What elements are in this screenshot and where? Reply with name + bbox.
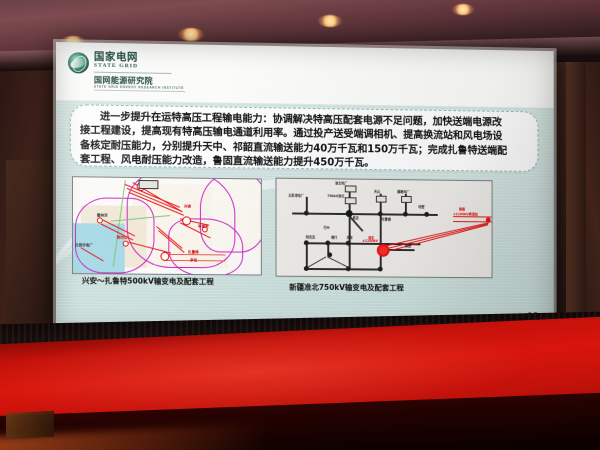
map-label-zhalute: 扎鲁特	[188, 250, 199, 255]
logo-divider-2	[94, 89, 185, 91]
right-wall-column	[566, 40, 586, 350]
sch-box-2	[345, 197, 357, 204]
map-label-tongliao: 霍林河	[97, 213, 108, 218]
sch-new-line-3	[383, 224, 488, 253]
sch-label-7: 昌吉	[353, 215, 359, 220]
figure-grid-schematic: 五彩湾电厂 准北电厂 750kV准北 天山 烟墩电厂 哈密 昌吉 吐鲁番 巴州 …	[276, 178, 493, 279]
map-label-xingan: 兴安	[184, 204, 191, 209]
sch-label-13: 和田	[405, 243, 411, 248]
sch-box-1	[345, 185, 357, 192]
sch-node-5	[424, 212, 429, 217]
sch-label-1: 五彩湾电厂	[288, 193, 304, 198]
sch-label-4: 天山	[374, 189, 380, 194]
sch-label-new-2: ±1100kV	[362, 239, 378, 243]
sch-node-terminal	[486, 217, 491, 222]
state-grid-globe-icon	[68, 52, 89, 73]
sch-node-2	[346, 210, 352, 216]
ceiling-light-3	[318, 15, 342, 27]
map-label-power-plant: 白音华电厂	[75, 243, 93, 248]
sch-box-3	[376, 196, 387, 203]
sch-label-10: 库车	[347, 235, 353, 240]
sch-node-4	[403, 212, 408, 217]
sch-label-2: 准北电厂	[335, 180, 347, 185]
sch-node-1	[304, 211, 309, 216]
map-label-duolun: 多伦	[190, 258, 197, 263]
conference-hall-scene: 国家电网 STATE GRID 国网能源研究院 STATE GRID ENERG…	[0, 0, 600, 450]
sch-label-terminal-2: ±1100kV换流站	[453, 211, 478, 216]
sch-node-11	[378, 267, 383, 272]
slide-text-card: 进一步提升在运特高压工程输电能力：协调解决特高压配套电源不足问题，加快送端电源改…	[70, 104, 538, 172]
sch-bus-upper	[292, 212, 438, 215]
sch-feeder-9	[306, 242, 307, 268]
floor-access-plate	[6, 411, 54, 440]
sch-node-6	[304, 240, 309, 245]
sch-node-9	[304, 266, 309, 271]
sch-label-3: 750kV准北	[327, 193, 344, 198]
sch-label-9: 巴州	[323, 225, 329, 230]
sch-bus-lower	[304, 268, 382, 270]
state-grid-logo: 国家电网 STATE GRID 国网能源研究院 STATE GRID ENERG…	[68, 51, 185, 91]
sch-label-6: 哈密	[418, 204, 424, 209]
sch-label-11: 阿克苏	[306, 234, 315, 239]
figure-caption-left: 兴安～扎鲁特500kV输变电及配套工程	[82, 275, 214, 287]
map-substation-xingan	[160, 252, 169, 261]
figure-caption-right: 新疆准北750kV输变电及配套工程	[289, 282, 404, 294]
ceiling-light-2	[178, 28, 204, 41]
figure-transmission-map: 兴安 平安水 扎鲁特 多伦 霍林河 白音华电厂 阿尔山	[72, 176, 262, 275]
projection-screen[interactable]: 国家电网 STATE GRID 国网能源研究院 STATE GRID ENERG…	[56, 42, 554, 334]
map-substation-small-1	[123, 241, 129, 247]
map-label-box-1	[139, 180, 159, 189]
sch-node-8	[346, 241, 351, 246]
sch-label-5: 烟墩电厂	[397, 189, 409, 194]
sch-node-7	[325, 240, 330, 245]
slide-header: 国家电网 STATE GRID 国网能源研究院 STATE GRID ENERG…	[56, 42, 554, 108]
map-substation-zhalute	[182, 216, 191, 225]
map-label-pinganshui: 平安水	[198, 224, 209, 229]
sch-new-substation	[377, 244, 390, 257]
ceiling-light-4	[452, 4, 474, 15]
sch-label-8: 吐鲁番	[382, 216, 391, 221]
map-canvas: 兴安 平安水 扎鲁特 多伦 霍林河 白音华电厂 阿尔山	[73, 177, 261, 274]
sch-label-12: 喀什	[331, 235, 337, 240]
map-label-aershan: 阿尔山	[117, 236, 128, 241]
sch-node-10	[346, 266, 351, 271]
sch-node-12	[327, 252, 332, 257]
logo-org-en: STATE GRID	[94, 63, 185, 72]
presentation-slide: 国家电网 STATE GRID 国网能源研究院 STATE GRID ENERG…	[56, 42, 554, 334]
sch-box-4	[401, 196, 412, 203]
logo-divider	[94, 72, 171, 74]
sch-feeder-6	[349, 243, 350, 269]
